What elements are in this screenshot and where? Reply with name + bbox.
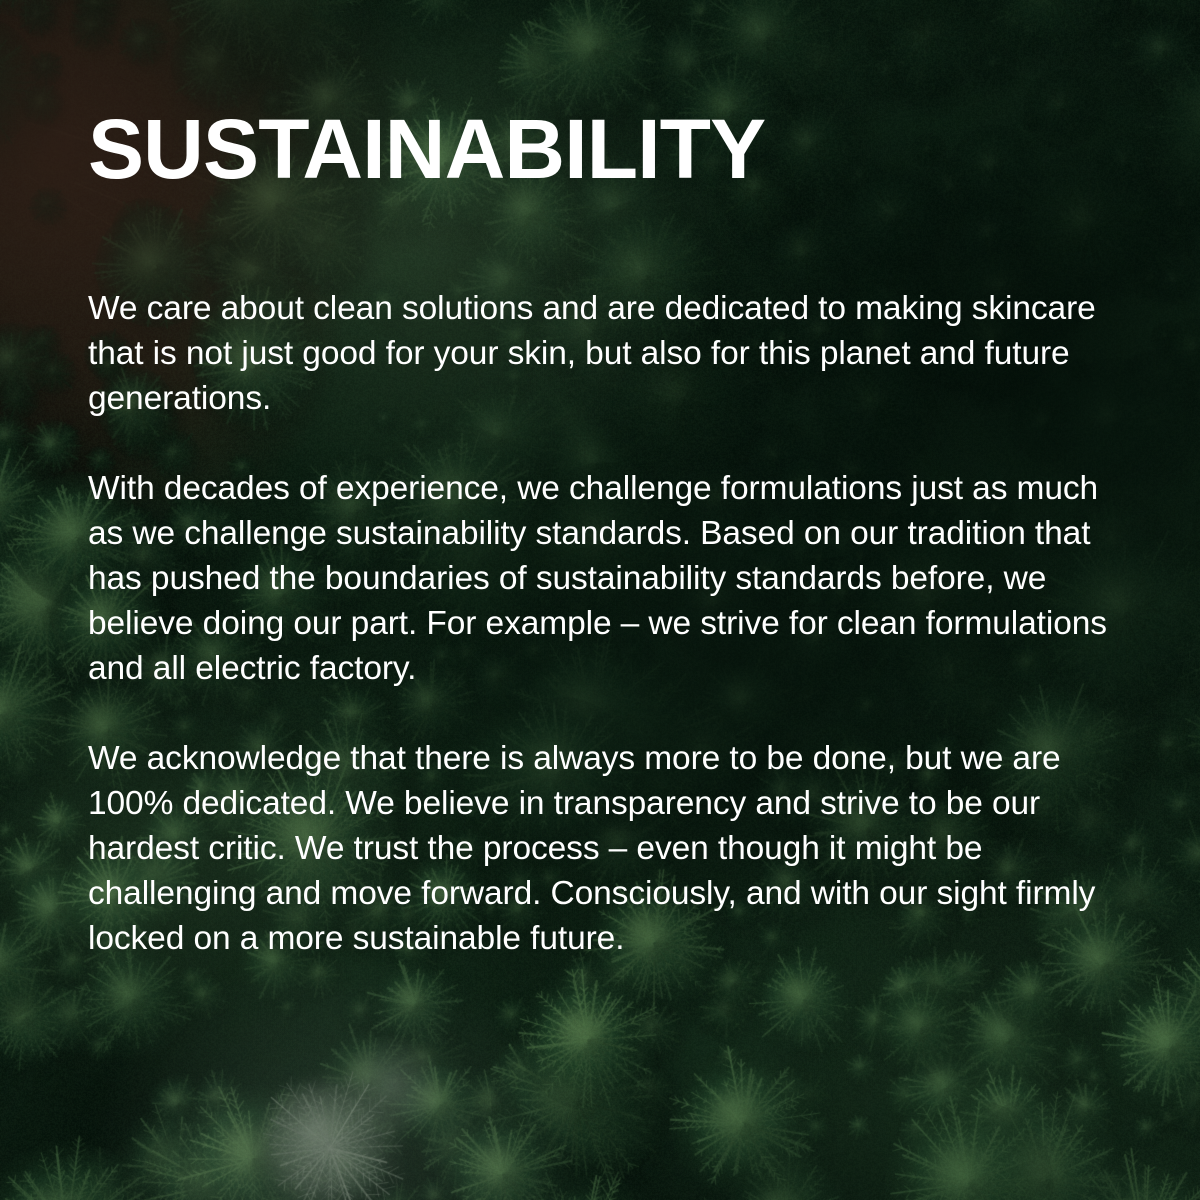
paragraph-3: We acknowledge that there is always more… — [88, 736, 1136, 961]
text-content-overlay: SUSTAINABILITY We care about clean solut… — [88, 0, 1138, 1200]
paragraph-2: With decades of experience, we challenge… — [88, 466, 1136, 691]
body-copy: We care about clean solutions and are de… — [88, 286, 1136, 961]
paragraph-1: We care about clean solutions and are de… — [88, 286, 1136, 421]
sustainability-page: SUSTAINABILITY We care about clean solut… — [0, 0, 1200, 1200]
page-title: SUSTAINABILITY — [88, 107, 765, 191]
